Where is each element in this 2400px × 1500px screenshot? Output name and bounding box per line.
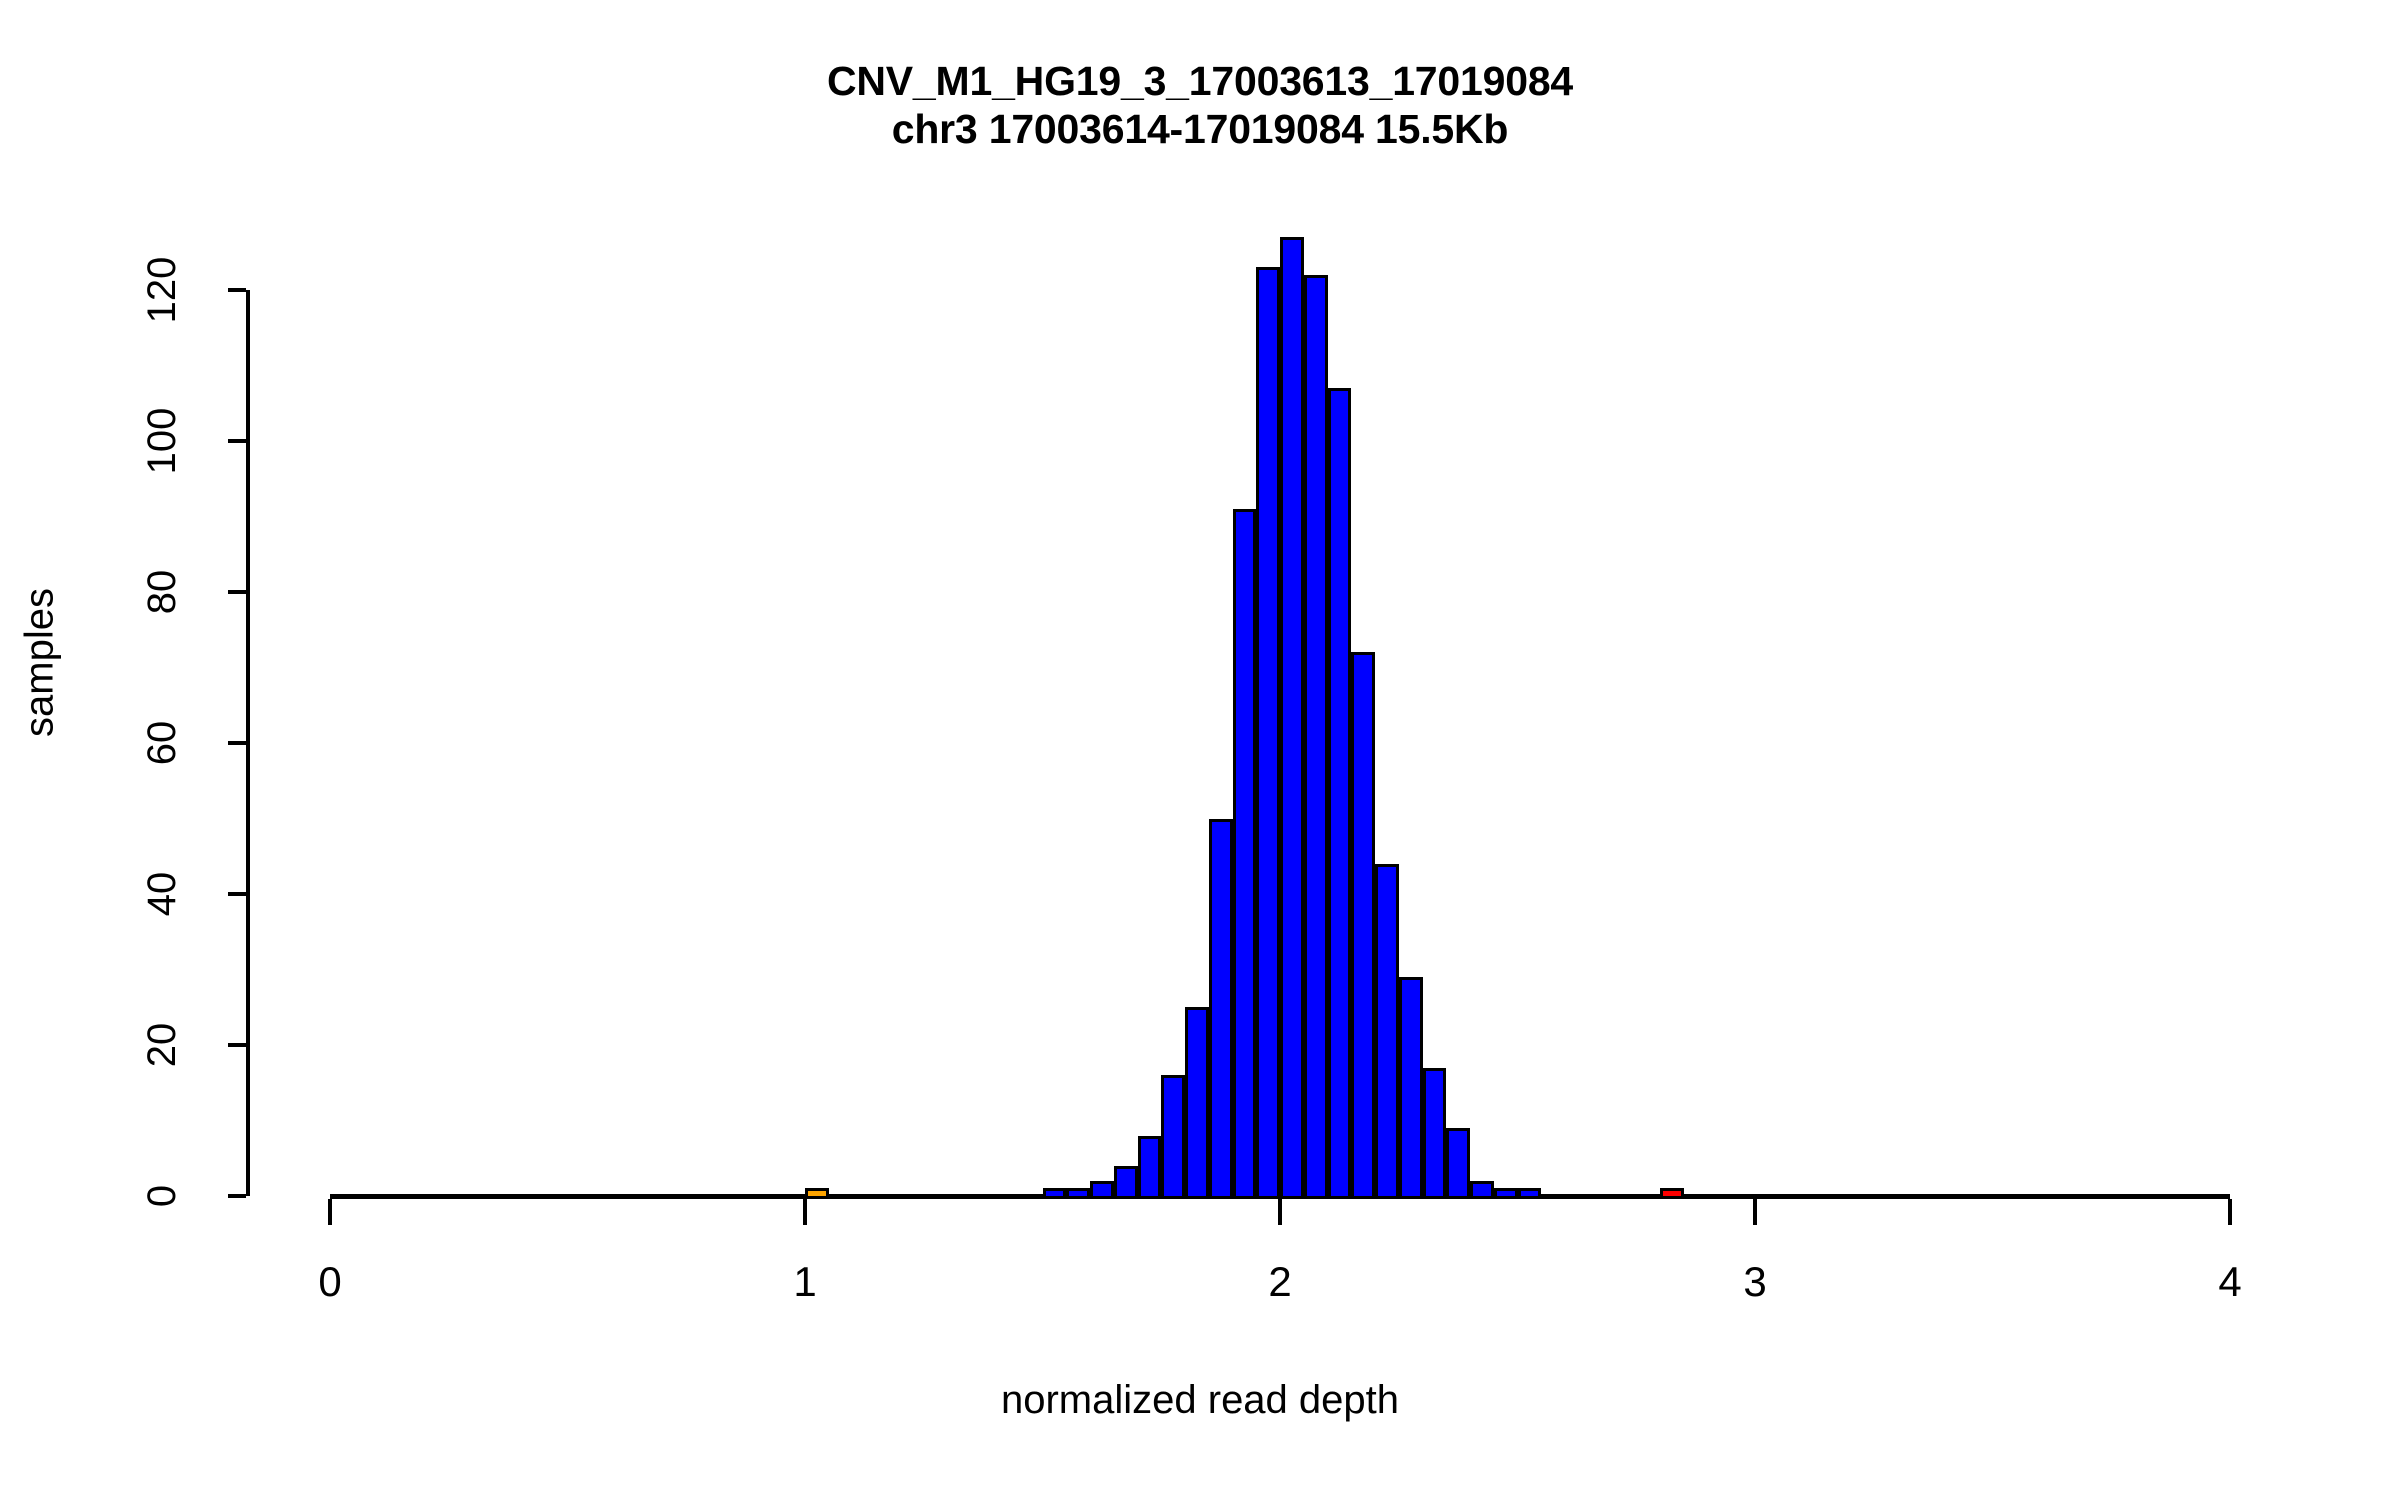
plot-area: 020406080100120 01234 normalized read de… (0, 0, 2400, 1500)
histogram-bar (1114, 1166, 1138, 1199)
histogram-bar (1304, 275, 1328, 1199)
chart-canvas: CNV_M1_HG19_3_17003613_17019084 chr3 170… (0, 0, 2400, 1500)
histogram-bar (1066, 1188, 1090, 1199)
histogram-bar (1161, 1075, 1185, 1199)
histogram-bar (1470, 1181, 1494, 1199)
histogram-bar (1375, 864, 1399, 1199)
histogram-bar (1494, 1188, 1518, 1199)
histogram-bar (1351, 652, 1375, 1199)
histogram-bar (1423, 1068, 1447, 1199)
histogram-bar (1043, 1188, 1067, 1199)
histogram-bar (1256, 267, 1280, 1199)
histogram-bar (1518, 1188, 1542, 1199)
y-axis-label: samples (18, 463, 63, 863)
histogram-bar (1328, 388, 1352, 1199)
histogram-bar (1399, 977, 1423, 1199)
histogram-bars (0, 0, 2400, 1500)
histogram-bar (1446, 1128, 1470, 1199)
histogram-bar (1233, 509, 1257, 1199)
histogram-bar (1090, 1181, 1114, 1199)
histogram-bar (1209, 819, 1233, 1200)
histogram-bar (1280, 237, 1304, 1199)
x-axis-label: normalized read depth (0, 1378, 2400, 1423)
histogram-bar (1185, 1007, 1209, 1199)
histogram-bar (1660, 1188, 1684, 1199)
histogram-bar (805, 1188, 829, 1199)
histogram-bar (1138, 1136, 1162, 1199)
